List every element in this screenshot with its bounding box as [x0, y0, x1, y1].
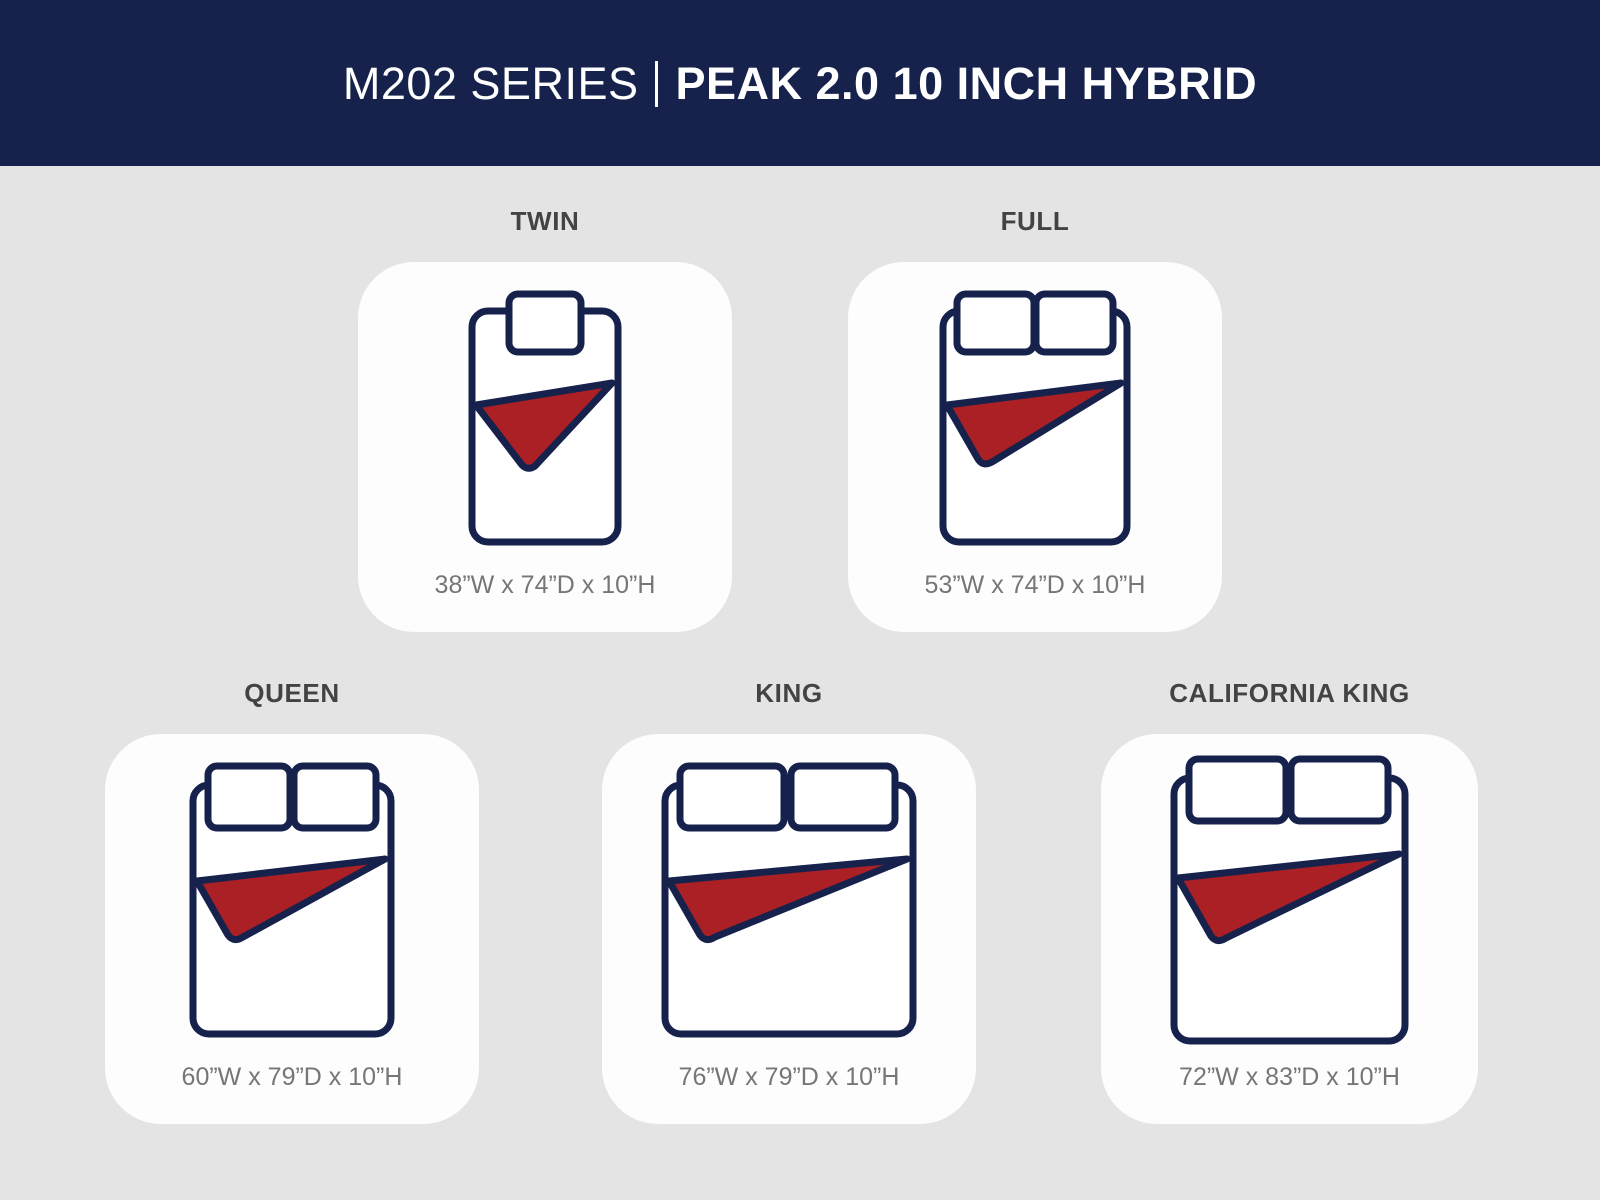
- header-bar: M202 SERIES PEAK 2.0 10 INCH HYBRID: [0, 0, 1600, 166]
- size-label-full: FULL: [848, 208, 1222, 234]
- size-dimensions-twin: 38”W x 74”D x 10”H: [358, 573, 732, 598]
- size-card-twin[interactable]: 38”W x 74”D x 10”H: [358, 262, 732, 632]
- header-series-label: M202 SERIES: [343, 61, 639, 106]
- bed-twin-icon: [358, 262, 732, 573]
- size-card-queen[interactable]: 60”W x 79”D x 10”H: [105, 734, 479, 1124]
- header-separator: [655, 61, 658, 107]
- size-card-grid: TWIN 38”W x 74”D x 10”H FULL: [0, 166, 1600, 1200]
- size-label-queen: QUEEN: [105, 680, 479, 706]
- bed-full-icon: [848, 262, 1222, 573]
- bed-queen-icon: [105, 734, 479, 1065]
- header-model-label: PEAK 2.0 10 INCH HYBRID: [675, 61, 1257, 106]
- size-card-california-king[interactable]: 72”W x 83”D x 10”H: [1101, 734, 1478, 1124]
- size-dimensions-full: 53”W x 74”D x 10”H: [848, 573, 1222, 598]
- size-card-king[interactable]: 76”W x 79”D x 10”H: [602, 734, 976, 1124]
- size-label-twin: TWIN: [358, 208, 732, 234]
- page-title: M202 SERIES PEAK 2.0 10 INCH HYBRID: [343, 60, 1257, 106]
- bed-king-icon: [602, 734, 976, 1065]
- size-dimensions-king: 76”W x 79”D x 10”H: [602, 1065, 976, 1090]
- bed-california-king-icon: [1101, 734, 1478, 1065]
- size-dimensions-queen: 60”W x 79”D x 10”H: [105, 1065, 479, 1090]
- size-dimensions-california-king: 72”W x 83”D x 10”H: [1101, 1065, 1478, 1090]
- size-label-king: KING: [602, 680, 976, 706]
- size-label-california-king: CALIFORNIA KING: [1101, 680, 1478, 706]
- size-card-full[interactable]: 53”W x 74”D x 10”H: [848, 262, 1222, 632]
